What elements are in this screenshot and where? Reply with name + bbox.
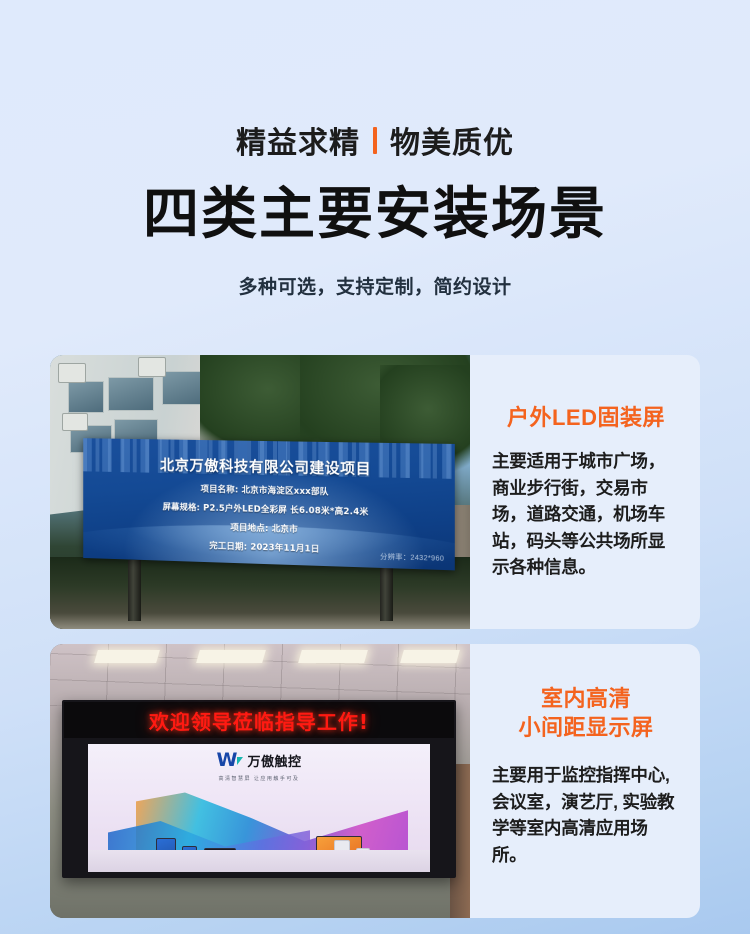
scenario-card-outdoor[interactable]: 北京万傲科技有限公司建设项目 项目名称: 北京市海淀区xxx部队 屏幕规格: P… — [50, 355, 700, 629]
eyebrow-separator-bar — [373, 127, 377, 154]
eyebrow-left-text: 精益求精 — [236, 118, 360, 162]
header-eyebrow: 精益求精 物美质优 — [0, 118, 750, 162]
page-subtitle: 多种可选，支持定制，简约设计 — [0, 272, 750, 299]
page-title: 四类主要安装场景 — [0, 186, 750, 242]
billboard-line: 项目地点: 北京市 — [83, 517, 455, 539]
banner-text: 欢迎领导莅临指导工作! — [149, 706, 369, 735]
ceiling-light — [298, 650, 368, 663]
indoor-card-text: 室内高清 小间距显示屏 主要用于监控指挥中心,会议室，演艺厅, 实验教学等室内高… — [470, 644, 700, 918]
billboard-line: 项目名称: 北京市海淀区xxx部队 — [83, 480, 455, 500]
led-billboard-screen: 北京万傲科技有限公司建设项目 项目名称: 北京市海淀区xxx部队 屏幕规格: P… — [83, 438, 455, 570]
card-title: 户外LED固装屏 — [492, 403, 680, 432]
billboard-support-pole — [380, 560, 393, 621]
card-description: 主要适用于城市广场，商业步行街，交易市场，道路交通，机场车站，码头等公共场所显示… — [492, 448, 680, 581]
card-description: 主要用于监控指挥中心,会议室，演艺厅, 实验教学等室内高清应用场所。 — [492, 762, 680, 868]
scenario-card-indoor[interactable]: 欢迎领导莅临指导工作! W 万傲触控 高清智慧屏 让应用触手可及 — [50, 644, 700, 918]
billboard-resolution-watermark: 分辨率：2432*960 — [380, 552, 444, 564]
outdoor-card-text: 户外LED固装屏 主要适用于城市广场，商业步行街，交易市场，道路交通，机场车站，… — [470, 355, 700, 629]
billboard-line: 屏幕规格: P2.5户外LED全彩屏 长6.08米*高2.4米 — [83, 499, 455, 520]
led-wall-frame: 欢迎领导莅临指导工作! W 万傲触控 高清智慧屏 让应用触手可及 — [62, 700, 456, 878]
building-window — [108, 377, 154, 411]
air-conditioner-unit — [62, 413, 88, 431]
billboard-title: 北京万傲科技有限公司建设项目 — [83, 453, 455, 481]
screen-logo: W 万傲触控 — [88, 751, 430, 770]
screen-tagline: 高清智慧屏 让应用触手可及 — [88, 775, 430, 782]
ceiling-light — [400, 650, 460, 663]
ceiling-light — [94, 650, 160, 663]
page-header: 精益求精 物美质优 四类主要安装场景 多种可选，支持定制，简约设计 — [0, 0, 750, 299]
eyebrow-right-text: 物美质优 — [390, 118, 514, 162]
scenario-card-list: 北京万傲科技有限公司建设项目 项目名称: 北京市海淀区xxx部队 屏幕规格: P… — [50, 355, 700, 918]
building-window — [162, 371, 204, 405]
card-title: 室内高清 小间距显示屏 — [492, 684, 680, 742]
outdoor-led-billboard-photo: 北京万傲科技有限公司建设项目 项目名称: 北京市海淀区xxx部队 屏幕规格: P… — [50, 355, 470, 629]
air-conditioner-unit — [138, 357, 166, 377]
logo-brand-text: 万傲触控 — [247, 751, 301, 770]
logo-accent-icon — [237, 757, 243, 765]
air-conditioner-unit — [58, 363, 86, 383]
building-window — [68, 381, 104, 413]
billboard-support-pole — [128, 560, 141, 621]
indoor-fine-pitch-led-photo: 欢迎领导莅临指导工作! W 万傲触控 高清智慧屏 让应用触手可及 — [50, 644, 470, 918]
logo-mark-icon: W — [217, 751, 236, 770]
screen-floor-strip — [88, 850, 430, 872]
led-scrolling-banner: 欢迎领导莅临指导工作! — [64, 702, 454, 738]
led-wall-screen: W 万傲触控 高清智慧屏 让应用触手可及 — [88, 744, 430, 872]
ceiling-light — [196, 650, 266, 663]
